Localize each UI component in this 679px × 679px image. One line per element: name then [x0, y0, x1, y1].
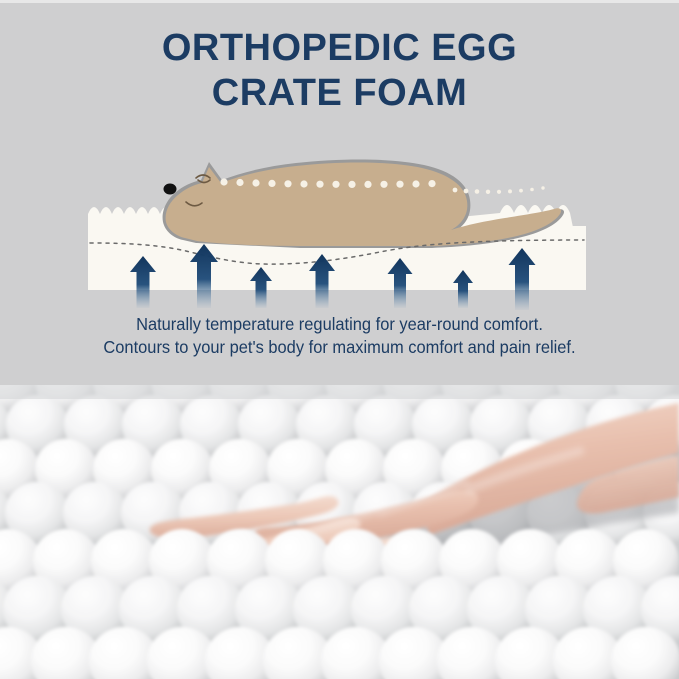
foam-bump-grid-front [0, 529, 679, 679]
product-infographic: ORTHOPEDIC EGG CRATE FOAM [0, 0, 679, 679]
headline-line-1: ORTHOPEDIC EGG [0, 26, 679, 71]
sleeping-dog-silhouette [163, 159, 564, 248]
page-title: ORTHOPEDIC EGG CRATE FOAM [0, 26, 679, 116]
headline-line-2: CRATE FOAM [0, 71, 679, 116]
top-hairline-divider [0, 0, 679, 3]
foam-closeup-photo [0, 385, 679, 679]
tail-dots [453, 186, 545, 194]
feature-caption: Naturally temperature regulating for yea… [20, 313, 658, 359]
caption-line-1: Naturally temperature regulating for yea… [20, 313, 658, 336]
infographic-panel: ORTHOPEDIC EGG CRATE FOAM [0, 0, 679, 385]
dog-on-foam-illustration [0, 130, 679, 310]
caption-line-2: Contours to your pet's body for maximum … [20, 336, 658, 359]
photo-top-blend [0, 385, 679, 399]
